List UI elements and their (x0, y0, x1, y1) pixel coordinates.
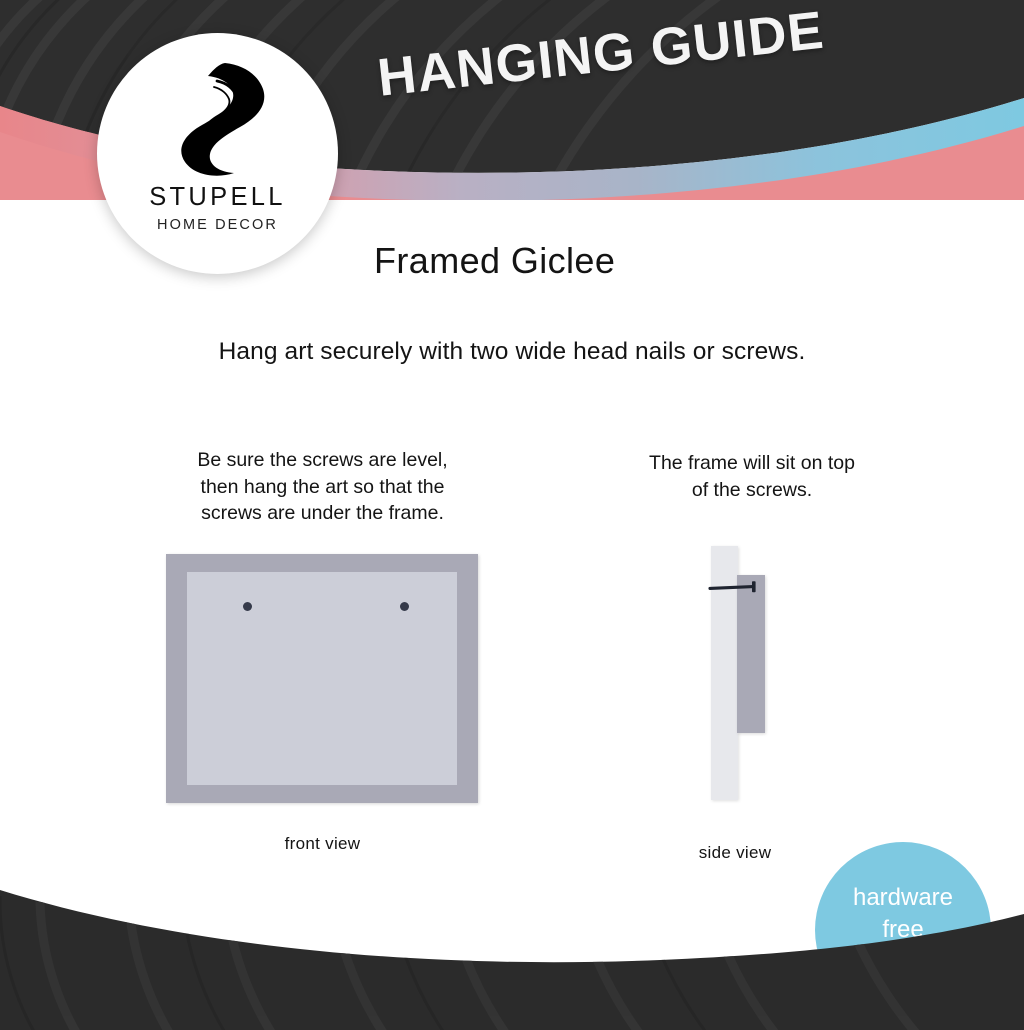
badge-line-3: hanging (860, 946, 945, 978)
front-caption-line-3: screws are under the frame. (150, 500, 495, 527)
screw-dot-left-icon (243, 602, 252, 611)
page-title: HANGING GUIDE (375, 0, 827, 109)
front-view-frame-diagram (166, 554, 478, 803)
front-view-artwork-mat (187, 572, 457, 785)
screw-dot-right-icon (400, 602, 409, 611)
stupell-s-swirl-icon (162, 59, 274, 181)
logo-subwordmark: HOME DECOR (157, 218, 278, 233)
product-type-title: Framed Giclee (374, 240, 615, 282)
main-instruction-text: Hang art securely with two wide head nai… (0, 338, 1024, 366)
side-view-label: side view (640, 843, 830, 863)
stupell-logo-badge: STUPELL HOME DECOR (97, 33, 338, 274)
front-view-caption: Be sure the screws are level, then hang … (150, 447, 495, 527)
badge-line-2: free (882, 914, 923, 946)
badge-line-1: hardware (853, 882, 953, 914)
front-caption-line-2: then hang the art so that the (150, 474, 495, 501)
front-caption-line-1: Be sure the screws are level, (150, 447, 495, 474)
side-caption-line-1: The frame will sit on top (592, 450, 912, 477)
side-view-frame-strip (737, 575, 765, 733)
side-view-diagram (700, 540, 790, 815)
hanging-guide-page: STUPELL HOME DECOR HANGING GUIDE Framed … (0, 0, 1024, 1024)
logo-wordmark: STUPELL (149, 185, 285, 211)
screw-side-icon (708, 580, 764, 594)
side-view-caption: The frame will sit on top of the screws. (592, 450, 912, 503)
hardware-free-hanging-badge: hardware free hanging (815, 842, 991, 1018)
side-caption-line-2: of the screws. (592, 477, 912, 504)
front-view-label: front view (170, 834, 475, 854)
